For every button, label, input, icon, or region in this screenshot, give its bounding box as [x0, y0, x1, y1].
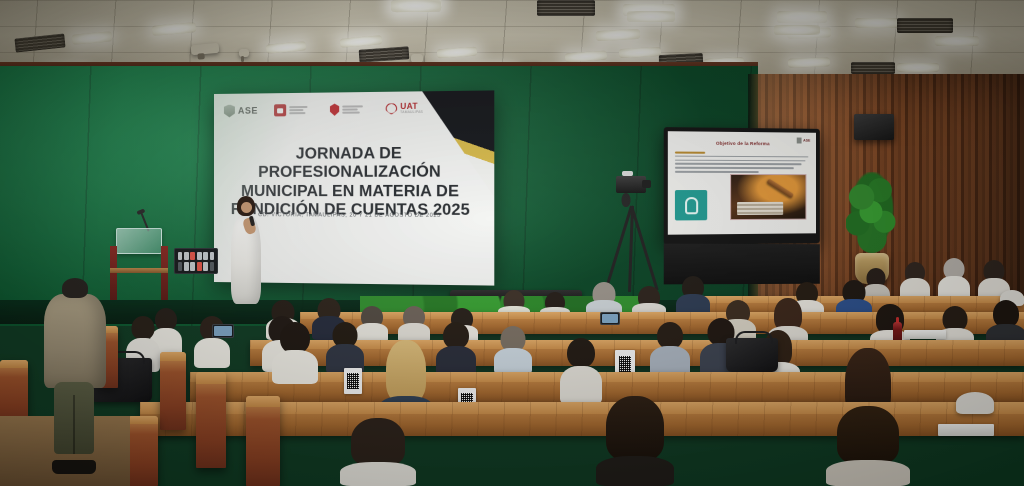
justice-icon	[675, 190, 707, 220]
justice-glyph	[685, 197, 698, 214]
notebook	[904, 330, 946, 339]
audience-member	[560, 338, 602, 404]
audience-member	[826, 406, 910, 486]
standing-attendee	[44, 278, 106, 474]
gavel-books-image	[730, 174, 806, 220]
presenter-speaker	[228, 196, 264, 304]
logo-text-lines	[289, 106, 307, 114]
torso	[826, 460, 910, 486]
bench-row[interactable]	[250, 340, 1024, 366]
bench-end-panel	[196, 372, 226, 468]
handbag	[726, 338, 778, 372]
audience-member	[272, 322, 318, 384]
bench-end-panel	[160, 352, 186, 430]
standing-attendee-hair	[62, 278, 88, 298]
torso	[272, 350, 318, 384]
standing-attendee-jacket	[44, 294, 106, 388]
uat-mark-icon	[386, 103, 397, 114]
crest-icon	[224, 104, 235, 117]
audience-member	[494, 326, 532, 374]
plant-foliage	[846, 172, 898, 255]
secondary-display: ASE Objetivo de la Reforma	[664, 127, 820, 245]
wood-grain	[250, 340, 1024, 366]
bench-end-panel	[128, 416, 158, 486]
tripod-leg	[628, 206, 633, 292]
video-camera-on-tripod	[606, 176, 658, 294]
audience-member	[650, 322, 690, 376]
torso	[194, 338, 230, 368]
smartphone[interactable]	[600, 312, 620, 325]
slide-logo-row: ASE UAT TAMAULIPAS	[224, 99, 414, 121]
red-square-institution-logo	[274, 104, 307, 116]
standing-attendee-shoes	[52, 460, 96, 474]
lectern-leg	[110, 246, 117, 300]
bench-end-cap	[246, 396, 280, 407]
video-camera-icon	[616, 176, 646, 193]
auditorium-photo: ASE UAT TAMAULIPAS	[0, 0, 1024, 486]
audience-member	[398, 306, 430, 342]
audience-member	[596, 396, 674, 486]
head	[351, 418, 405, 466]
lectern-glass-top	[116, 228, 162, 254]
white-cap	[956, 392, 994, 414]
torso	[596, 456, 674, 486]
lectern-shelf	[110, 268, 168, 273]
gavel-shape	[767, 179, 794, 199]
shield-icon	[330, 104, 339, 116]
bench-end-panel	[246, 396, 280, 486]
head	[567, 338, 595, 368]
head	[443, 322, 469, 349]
torso	[340, 462, 416, 486]
tv-screen: ASE Objetivo de la Reforma	[668, 131, 816, 235]
wall-mounted-speaker	[854, 114, 894, 140]
wall-control-panel[interactable]	[174, 248, 218, 274]
head	[132, 316, 155, 340]
logo-text-lines	[342, 106, 363, 114]
bench-end-cap	[0, 360, 28, 368]
tripod-leg	[630, 206, 658, 291]
smartphone[interactable]	[212, 324, 234, 338]
red-shield-institution-logo	[330, 103, 363, 116]
red-square-icon	[274, 104, 286, 116]
slide-title-line-1: JORNADA DE PROFESIONALIZACIÓN	[226, 145, 475, 183]
audience-member	[326, 322, 364, 374]
tv-slide-title: Objetivo de la Reforma	[668, 140, 816, 146]
head	[386, 340, 426, 402]
books-shape	[737, 202, 783, 215]
acrylic-lectern	[108, 228, 170, 300]
head	[606, 396, 664, 460]
head	[657, 322, 683, 349]
audience-member	[436, 322, 476, 376]
standing-attendee-trousers	[54, 382, 94, 454]
head	[837, 406, 899, 464]
notebook	[938, 424, 994, 436]
ase-logo-label: ASE	[238, 106, 258, 116]
bench-end-cap	[128, 416, 158, 424]
presenter-face	[241, 202, 252, 213]
lectern-leg	[161, 246, 168, 300]
ase-crest-logo: ASE	[224, 104, 258, 117]
audience-member	[340, 418, 416, 486]
bench-end-cap	[160, 352, 186, 361]
qr-code-card	[344, 368, 362, 394]
bench-end-cap	[196, 372, 226, 384]
uat-logo-sublabel: TAMAULIPAS	[400, 111, 423, 115]
torso	[494, 348, 532, 374]
tv-slide-body-text	[675, 152, 809, 173]
uat-logo: UAT TAMAULIPAS	[386, 103, 423, 115]
